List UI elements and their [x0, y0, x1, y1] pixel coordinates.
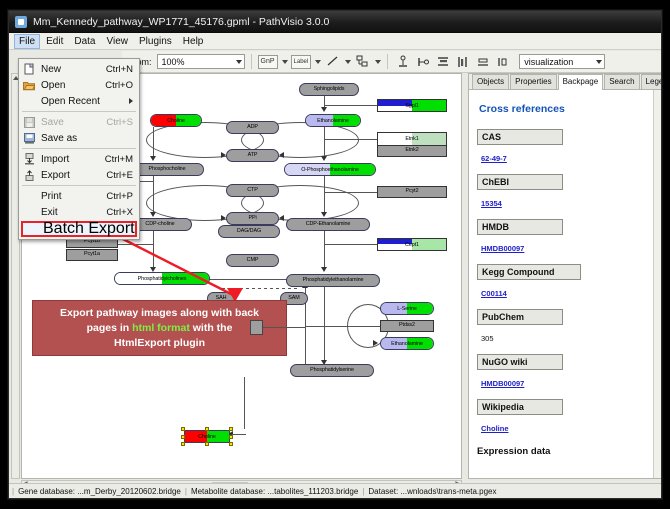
file-menu-item-import[interactable]: Import Ctrl+M: [19, 151, 139, 167]
menu-plugins[interactable]: Plugins: [134, 34, 177, 49]
side-panel-scrollbar[interactable]: [653, 90, 661, 478]
toolbar-divider: [387, 54, 388, 69]
blank-icon: [21, 205, 37, 219]
tab-search[interactable]: Search: [604, 74, 639, 89]
gene-product-tool-icon[interactable]: GnP: [258, 55, 278, 69]
annotation-callout: Export pathway images along with back pa…: [32, 300, 287, 356]
file-menu-accel: Ctrl+E: [106, 170, 139, 181]
file-menu-item-new[interactable]: New Ctrl+N: [19, 61, 139, 77]
distribute-vertical-icon[interactable]: [434, 53, 451, 70]
xref-label-chebi: ChEBI: [477, 174, 563, 190]
blank-icon: [21, 94, 37, 108]
file-menu-label: New: [37, 64, 106, 75]
backpage-content: Cross references CAS 62-49-7 ChEBI 15354…: [469, 90, 661, 478]
file-menu-label: Exit: [37, 207, 106, 218]
annotation-line3: HtmlExport plugin: [114, 337, 205, 349]
file-menu-label: Save: [37, 117, 106, 128]
toolbar-divider: [251, 54, 252, 69]
tab-properties[interactable]: Properties: [510, 74, 556, 89]
blank-icon: [21, 189, 37, 203]
edge: [263, 327, 305, 328]
title-bar: Mm_Kennedy_pathway_WP1771_45176.gpml - P…: [9, 11, 661, 33]
chevron-down-icon[interactable]: [315, 60, 321, 64]
file-menu-item-print[interactable]: Print Ctrl+P: [19, 188, 139, 204]
zoom-combobox[interactable]: 100%: [157, 54, 245, 69]
visualization-value: visualization: [524, 57, 573, 67]
menu-file[interactable]: File: [14, 34, 40, 49]
file-menu-item-open-recent[interactable]: Open Recent: [19, 93, 139, 109]
file-menu-label: Import: [37, 154, 105, 165]
menu-edit[interactable]: Edit: [41, 34, 68, 49]
annotation-line2-pre: pages in: [87, 322, 133, 334]
file-menu-accel: Ctrl+M: [105, 154, 139, 165]
chevron-down-icon: [596, 60, 602, 64]
annotation-line2-post: with the: [190, 322, 233, 334]
file-menu-label: Batch Export: [23, 220, 135, 238]
status-separator: |: [185, 487, 187, 496]
status-metabolite-database: Metabolite database: ...tabolites_111203…: [191, 487, 358, 496]
xref-value-cas[interactable]: 62-49-7: [481, 154, 507, 163]
xref-label-nugo: NuGO wiki: [477, 354, 563, 370]
file-menu-label: Open Recent: [37, 96, 129, 107]
status-gene-database: Gene database: ...m_Derby_20120602.bridg…: [18, 487, 181, 496]
side-panel: Objects Properties Backpage Search Legen…: [468, 73, 662, 479]
application-window: Mm_Kennedy_pathway_WP1771_45176.gpml - P…: [8, 10, 662, 499]
file-menu-label: Save as: [37, 133, 133, 144]
tab-backpage[interactable]: Backpage: [558, 74, 604, 90]
xref-value-nugo[interactable]: HMDB00097: [481, 379, 524, 388]
menu-divider: [22, 185, 136, 186]
line-tool-icon[interactable]: [324, 53, 341, 70]
cross-references-heading: Cross references: [479, 103, 653, 115]
zoom-value: 100%: [162, 57, 185, 67]
screenshot-root: Mm_Kennedy_pathway_WP1771_45176.gpml - P…: [0, 0, 670, 509]
menu-bar: File Edit Data View Plugins Help: [9, 33, 661, 50]
xref-value-kegg[interactable]: C00114: [481, 289, 507, 298]
file-menu-label: Export: [37, 170, 106, 181]
submenu-arrow-icon: [129, 98, 133, 104]
annotation-line1: Export pathway images along with back: [60, 307, 259, 319]
menu-divider: [22, 111, 136, 112]
align-top-icon[interactable]: [394, 53, 411, 70]
pathvisio-app-icon: [15, 16, 27, 28]
xref-label-kegg: Kegg Compound: [477, 264, 581, 280]
xref-value-hmdb[interactable]: HMDB00097: [481, 244, 524, 253]
annotation-line2-highlight: html format: [132, 322, 190, 334]
status-separator: |: [362, 487, 364, 496]
status-dataset: Dataset: ...wnloads\trans-meta.pgex: [368, 487, 496, 496]
file-menu-item-export[interactable]: Export Ctrl+E: [19, 167, 139, 183]
menu-view[interactable]: View: [101, 34, 133, 49]
distribute-horizontal-icon[interactable]: [454, 53, 471, 70]
chevron-down-icon[interactable]: [375, 60, 381, 64]
xref-label-cas: CAS: [477, 129, 563, 145]
new-document-icon: [21, 62, 37, 76]
file-menu-item-batch-export[interactable]: Batch Export: [21, 221, 137, 237]
file-menu-accel: Ctrl+P: [106, 191, 139, 202]
import-icon: [21, 152, 37, 166]
tab-objects[interactable]: Objects: [472, 74, 509, 89]
xref-value-wikipedia[interactable]: Choline: [481, 424, 509, 433]
xref-label-wikipedia: Wikipedia: [477, 399, 563, 415]
xref-label-hmdb: HMDB: [477, 219, 563, 235]
anchor-shape[interactable]: [250, 320, 263, 335]
window-title: Mm_Kennedy_pathway_WP1771_45176.gpml - P…: [33, 16, 329, 28]
file-menu-accel: Ctrl+X: [106, 207, 139, 218]
file-menu-item-save-as[interactable]: Save as: [19, 130, 139, 146]
file-menu-popup: New Ctrl+N Open Ctrl+O Open Recent: [18, 58, 140, 240]
shape-tool-icon[interactable]: [354, 53, 371, 70]
menu-help[interactable]: Help: [178, 34, 209, 49]
label-tool-icon[interactable]: Label: [291, 55, 312, 69]
same-width-icon[interactable]: [474, 53, 491, 70]
chevron-down-icon[interactable]: [345, 60, 351, 64]
file-menu-accel: Ctrl+O: [105, 80, 139, 91]
export-icon: [21, 168, 37, 182]
visualization-combobox[interactable]: visualization: [519, 54, 605, 69]
tab-legend[interactable]: Legend: [641, 74, 662, 89]
xref-value-pubchem: 305: [481, 334, 494, 343]
status-separator: |: [12, 487, 14, 496]
save-disk-icon: [21, 115, 37, 129]
file-menu-accel: Ctrl+N: [106, 64, 139, 75]
xref-value-chebi[interactable]: 15354: [481, 199, 502, 208]
file-menu-accel: Ctrl+S: [106, 117, 139, 128]
open-folder-icon: [21, 78, 37, 92]
file-menu-item-save: Save Ctrl+S: [19, 114, 139, 130]
toolbar: Zoom: 100% GnP Label: [122, 51, 662, 73]
xref-label-pubchem: PubChem: [477, 309, 563, 325]
align-left-icon[interactable]: [414, 53, 431, 70]
file-menu-label: Print: [37, 191, 106, 202]
file-menu-item-exit[interactable]: Exit Ctrl+X: [19, 204, 139, 220]
menu-divider: [22, 148, 136, 149]
file-menu-label: Open: [37, 80, 105, 91]
file-menu-item-open[interactable]: Open Ctrl+O: [19, 77, 139, 93]
same-height-icon[interactable]: [494, 53, 511, 70]
chevron-down-icon: [236, 60, 242, 64]
menu-data[interactable]: Data: [69, 34, 100, 49]
side-panel-tabs: Objects Properties Backpage Search Legen…: [469, 74, 661, 90]
chevron-down-icon[interactable]: [282, 60, 288, 64]
expression-data-heading: Expression data: [477, 446, 653, 457]
save-as-icon: [21, 131, 37, 145]
status-bar: | Gene database: ...m_Derby_20120602.bri…: [9, 483, 662, 498]
